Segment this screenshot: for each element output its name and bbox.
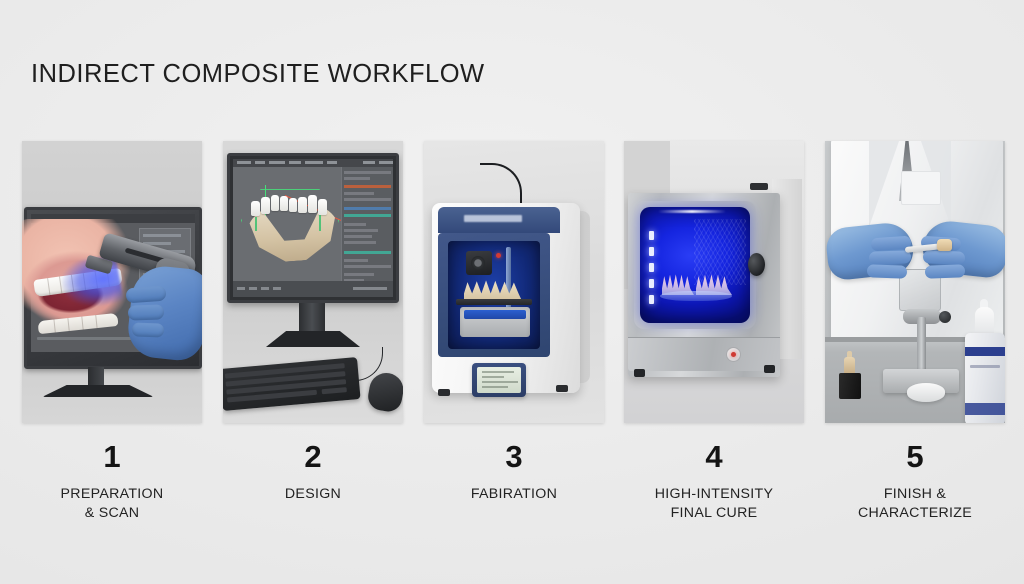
uv-led bbox=[649, 231, 654, 240]
step-label: DESIGN bbox=[223, 485, 403, 504]
step-label-line2: CHARACTERIZE bbox=[825, 504, 1005, 523]
panel-row bbox=[143, 234, 181, 237]
coat-lapel-left bbox=[869, 141, 899, 227]
print-head bbox=[466, 251, 492, 275]
step-number: 2 bbox=[223, 441, 403, 472]
step-number: 5 bbox=[825, 441, 1005, 472]
glove-finger bbox=[867, 264, 907, 278]
step-number: 1 bbox=[22, 441, 202, 472]
print-head-fan bbox=[471, 256, 485, 270]
printed-dental-model bbox=[464, 279, 522, 301]
step-label: FINISH & CHARACTERIZE bbox=[825, 485, 1005, 523]
uv-led bbox=[649, 263, 654, 272]
glove-finger bbox=[132, 322, 164, 337]
step-4-caption: 4 HIGH-INTENSITY FINAL CURE bbox=[624, 441, 804, 523]
step-5-caption: 5 FINISH & CHARACTERIZE bbox=[825, 441, 1005, 523]
mixing-well bbox=[907, 383, 945, 402]
glove-finger bbox=[869, 250, 911, 264]
glove-finger bbox=[923, 250, 965, 264]
step-label-line1: PREPARATION bbox=[22, 485, 202, 504]
workflow-step-5: 5 FINISH & CHARACTERIZE bbox=[825, 141, 1005, 423]
monitor-base bbox=[42, 385, 154, 397]
oven-window bbox=[640, 207, 750, 323]
workflow-step-2: 2 DESIGN bbox=[223, 141, 403, 423]
oven-top-latch bbox=[750, 183, 768, 190]
step-label-line1: FABIRATION bbox=[424, 485, 604, 504]
printer-foot bbox=[438, 389, 450, 396]
printer-brand-logo bbox=[464, 215, 522, 222]
step-label-line1: DESIGN bbox=[223, 485, 403, 504]
glove-finger bbox=[128, 304, 165, 320]
step-1-caption: 1 PREPARATION & SCAN bbox=[22, 441, 202, 523]
workflow-step-1: 1 PREPARATION & SCAN bbox=[22, 141, 202, 423]
workflow-step-4: 4 HIGH-INTENSITY FINAL CURE bbox=[624, 141, 804, 423]
step-3-caption: 3 FABIRATION bbox=[424, 441, 604, 504]
printer-chamber-window bbox=[448, 241, 540, 349]
monitor-base bbox=[257, 331, 369, 347]
step-number: 3 bbox=[424, 441, 604, 472]
liquid-bottle-band bbox=[965, 347, 1005, 356]
step-5-photo bbox=[825, 141, 1005, 423]
cad-properties-panel bbox=[341, 167, 393, 281]
step-label-line2: & SCAN bbox=[22, 504, 202, 523]
step-2-caption: 2 DESIGN bbox=[223, 441, 403, 504]
oven-foot bbox=[634, 369, 645, 377]
page-title: INDIRECT COMPOSITE WORKFLOW bbox=[31, 60, 485, 89]
printer-touchscreen[interactable] bbox=[472, 363, 526, 397]
oven-turntable bbox=[660, 291, 732, 301]
keyboard bbox=[223, 357, 361, 411]
uv-led bbox=[649, 295, 654, 304]
resin-vat bbox=[460, 307, 530, 337]
step-label-line1: FINISH & bbox=[825, 485, 1005, 504]
printer-foot bbox=[556, 385, 568, 392]
cad-viewport bbox=[233, 167, 341, 281]
step-label: PREPARATION & SCAN bbox=[22, 485, 202, 523]
computer-mouse bbox=[366, 370, 403, 413]
liquid-bottle-label bbox=[970, 365, 1000, 368]
liquid-bottle-band bbox=[965, 403, 1005, 415]
oven-foot bbox=[764, 365, 775, 373]
coat-pocket bbox=[901, 171, 941, 205]
cad-menubar bbox=[233, 159, 393, 167]
step-label-line2: FINAL CURE bbox=[624, 504, 804, 523]
step-1-photo bbox=[22, 141, 202, 423]
printer-status-light bbox=[496, 253, 501, 258]
stand-knob[interactable] bbox=[939, 311, 951, 323]
window-highlight bbox=[658, 210, 726, 213]
uv-led bbox=[649, 247, 654, 256]
step-4-photo bbox=[624, 141, 804, 423]
oven-power-button[interactable] bbox=[726, 347, 741, 362]
oven-door bbox=[634, 201, 756, 329]
cad-screen bbox=[233, 159, 393, 297]
oven-base-panel bbox=[628, 337, 780, 371]
step-label-line1: HIGH-INTENSITY bbox=[624, 485, 804, 504]
uv-led bbox=[649, 279, 654, 288]
monitor-bezel bbox=[227, 153, 399, 303]
stand-post bbox=[917, 317, 926, 375]
step-label: HIGH-INTENSITY FINAL CURE bbox=[624, 485, 804, 523]
oven-door-handle[interactable] bbox=[748, 253, 765, 276]
glove-finger bbox=[925, 264, 965, 278]
monitor-stand bbox=[299, 303, 325, 333]
composite-crown bbox=[937, 239, 952, 251]
step-number: 4 bbox=[624, 441, 804, 472]
workflow-step-3: 3 FABIRATION bbox=[424, 141, 604, 423]
printer-front-frame bbox=[438, 233, 550, 357]
chamber-mesh-wall bbox=[694, 219, 746, 285]
step-label: FABIRATION bbox=[424, 485, 604, 504]
cad-statusbar bbox=[233, 281, 393, 297]
build-plate bbox=[456, 299, 532, 305]
step-3-photo bbox=[424, 141, 604, 423]
step-2-photo bbox=[223, 141, 403, 423]
glove-finger bbox=[126, 286, 167, 304]
stain-bottle bbox=[839, 373, 861, 399]
